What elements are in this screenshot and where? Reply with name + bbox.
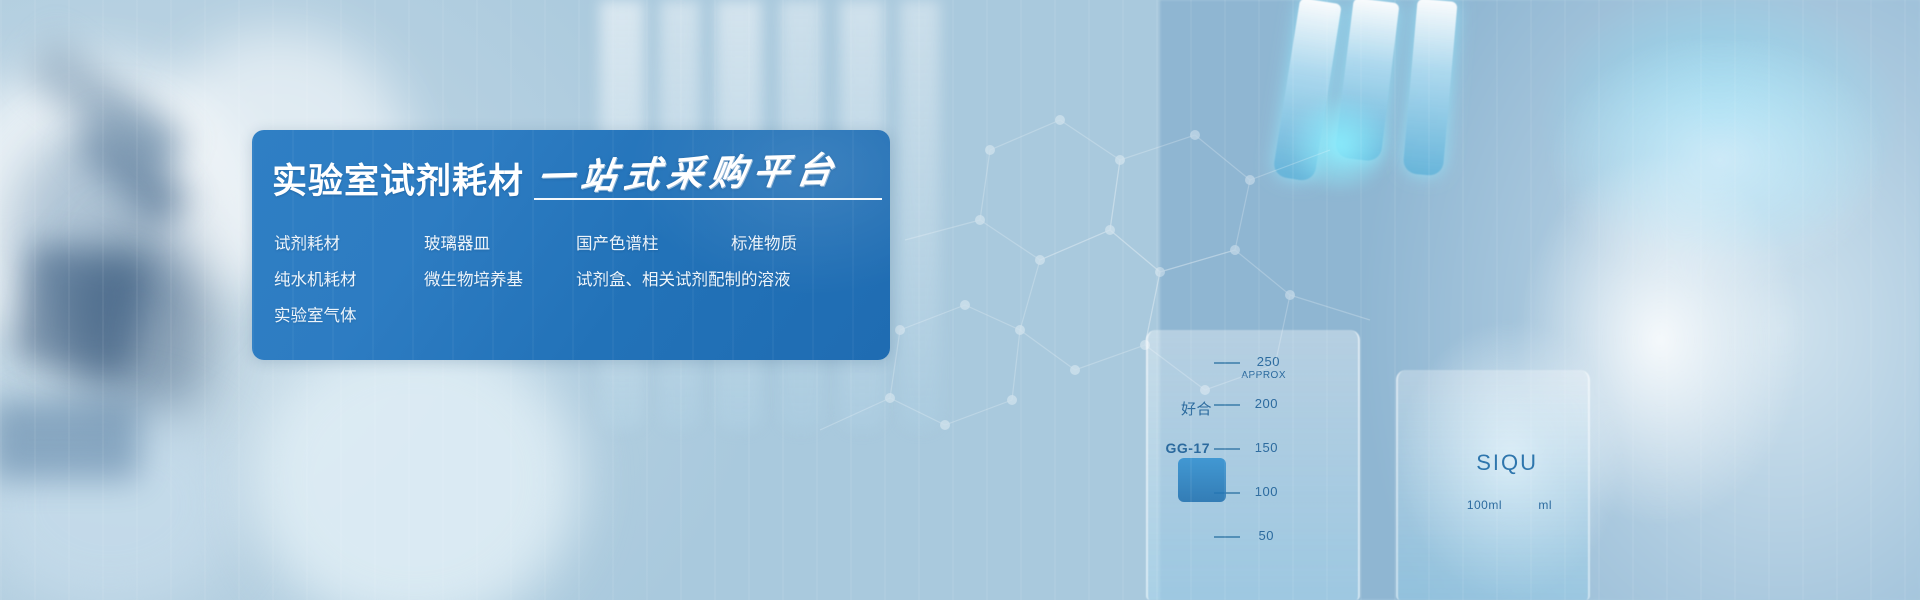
category-link-microbial-culture-media[interactable]: 微生物培养基 — [424, 270, 576, 290]
category-link-glassware[interactable]: 玻璃器皿 — [424, 234, 576, 254]
headline-primary-text: 实验室试剂耗材 — [272, 165, 524, 200]
headline-panel: 实验室试剂耗材 一站式采购平台 试剂耗材 玻璃器皿 国产色谱柱 标准物质 纯水机… — [252, 130, 890, 360]
promo-banner: 250 APPROX 200 150 100 50 GG-17 好合 SIQU … — [0, 0, 1920, 600]
category-link-row: 实验室气体 — [274, 306, 874, 326]
category-link-row: 纯水机耗材 微生物培养基 试剂盒、相关试剂配制的溶液 — [274, 270, 874, 290]
category-link-row: 试剂耗材 玻璃器皿 国产色谱柱 标准物质 — [274, 234, 874, 254]
headline-brush-text: 一站式采购平台 — [535, 152, 842, 196]
category-link-water-purifier-consumables[interactable]: 纯水机耗材 — [274, 270, 424, 290]
headline-underline — [534, 198, 882, 200]
category-link-reagent-kits-and-solutions[interactable]: 试剂盒、相关试剂配制的溶液 — [576, 270, 791, 290]
headline-brush-wrap: 一站式采购平台 — [538, 156, 839, 200]
category-link-laboratory-gases[interactable]: 实验室气体 — [274, 306, 424, 326]
category-link-reference-materials[interactable]: 标准物质 — [731, 234, 797, 254]
banner-headline: 实验室试剂耗材 一站式采购平台 — [272, 156, 839, 200]
category-link-domestic-chromatography-column[interactable]: 国产色谱柱 — [576, 234, 731, 254]
category-link-list: 试剂耗材 玻璃器皿 国产色谱柱 标准物质 纯水机耗材 微生物培养基 试剂盒、相关… — [274, 234, 874, 341]
category-link-reagent-consumables[interactable]: 试剂耗材 — [274, 234, 424, 254]
